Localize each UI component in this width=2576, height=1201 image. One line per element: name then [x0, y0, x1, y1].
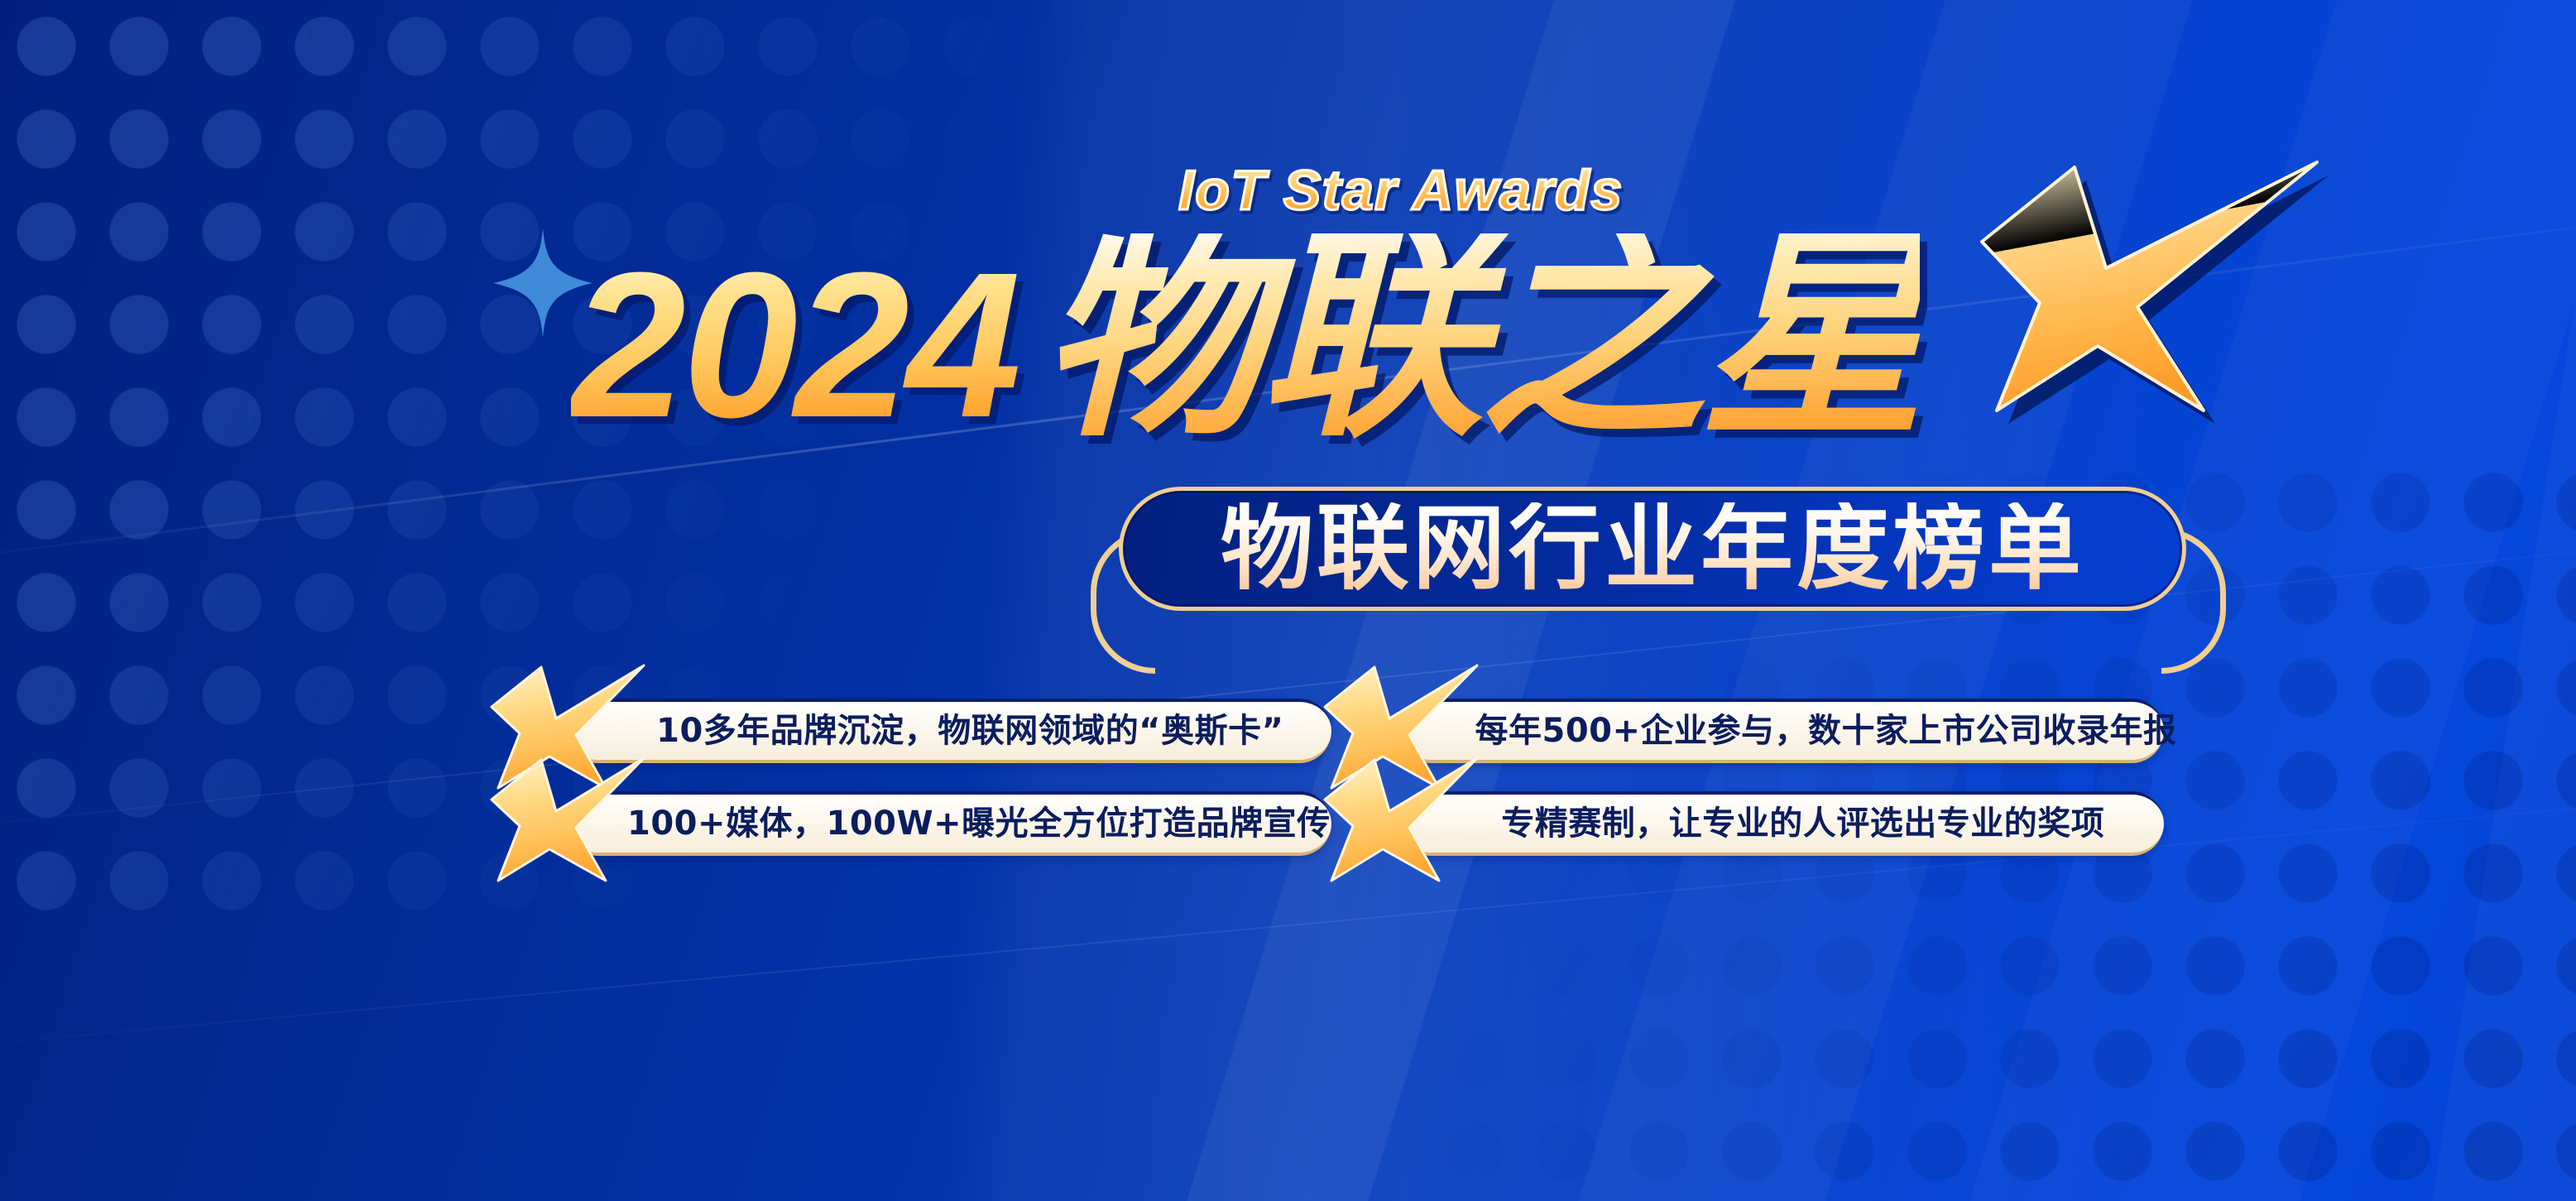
feature-pill: 每年500+企业参与，数十家上市公司收录年报 — [1399, 699, 2165, 763]
feature-pill: 10多年品牌沉淀，物联网领域的“奥斯卡” — [566, 699, 1331, 763]
main-headline: 2024 物联之星 — [571, 233, 1920, 440]
feature-text: 10多年品牌沉淀，物联网领域的“奥斯卡” — [566, 714, 1331, 747]
feature-text: 100+媒体，100W+曝光全方位打造品牌宣传 — [566, 807, 1331, 840]
shooting-star-icon — [1974, 152, 2329, 508]
feature-pill: 专精赛制，让专业的人评选出专业的奖项 — [1399, 791, 2165, 856]
headline-year: 2024 — [571, 250, 1018, 440]
feature-list: 10多年品牌沉淀，物联网领域的“奥斯卡” — [530, 692, 2164, 864]
feature-item: 专精赛制，让专业的人评选出专业的奖项 — [1363, 785, 2165, 864]
headline-chinese: 物联之星 — [1039, 233, 1920, 440]
feature-pill: 100+媒体，100W+曝光全方位打造品牌宣传 — [566, 791, 1331, 856]
awards-banner: IoT Star Awards 2024 物联之星 — [0, 0, 2576, 1201]
subtitle-pill: 物联网行业年度榜单 — [1119, 487, 2186, 611]
feature-text: 专精赛制，让专业的人评选出专业的奖项 — [1399, 807, 2165, 840]
banner-content: IoT Star Awards 2024 物联之星 — [0, 0, 2576, 1201]
feature-item: 10多年品牌沉淀，物联网领域的“奥斯卡” — [530, 692, 1331, 771]
feature-text: 每年500+企业参与，数十家上市公司收录年报 — [1399, 714, 2165, 747]
subtitle-text: 物联网行业年度榜单 — [1221, 502, 2084, 595]
feature-item: 每年500+企业参与，数十家上市公司收录年报 — [1363, 692, 2165, 771]
shooting-star-icon — [1323, 757, 1479, 896]
shooting-star-icon — [490, 757, 645, 896]
feature-item: 100+媒体，100W+曝光全方位打造品牌宣传 — [530, 785, 1331, 864]
